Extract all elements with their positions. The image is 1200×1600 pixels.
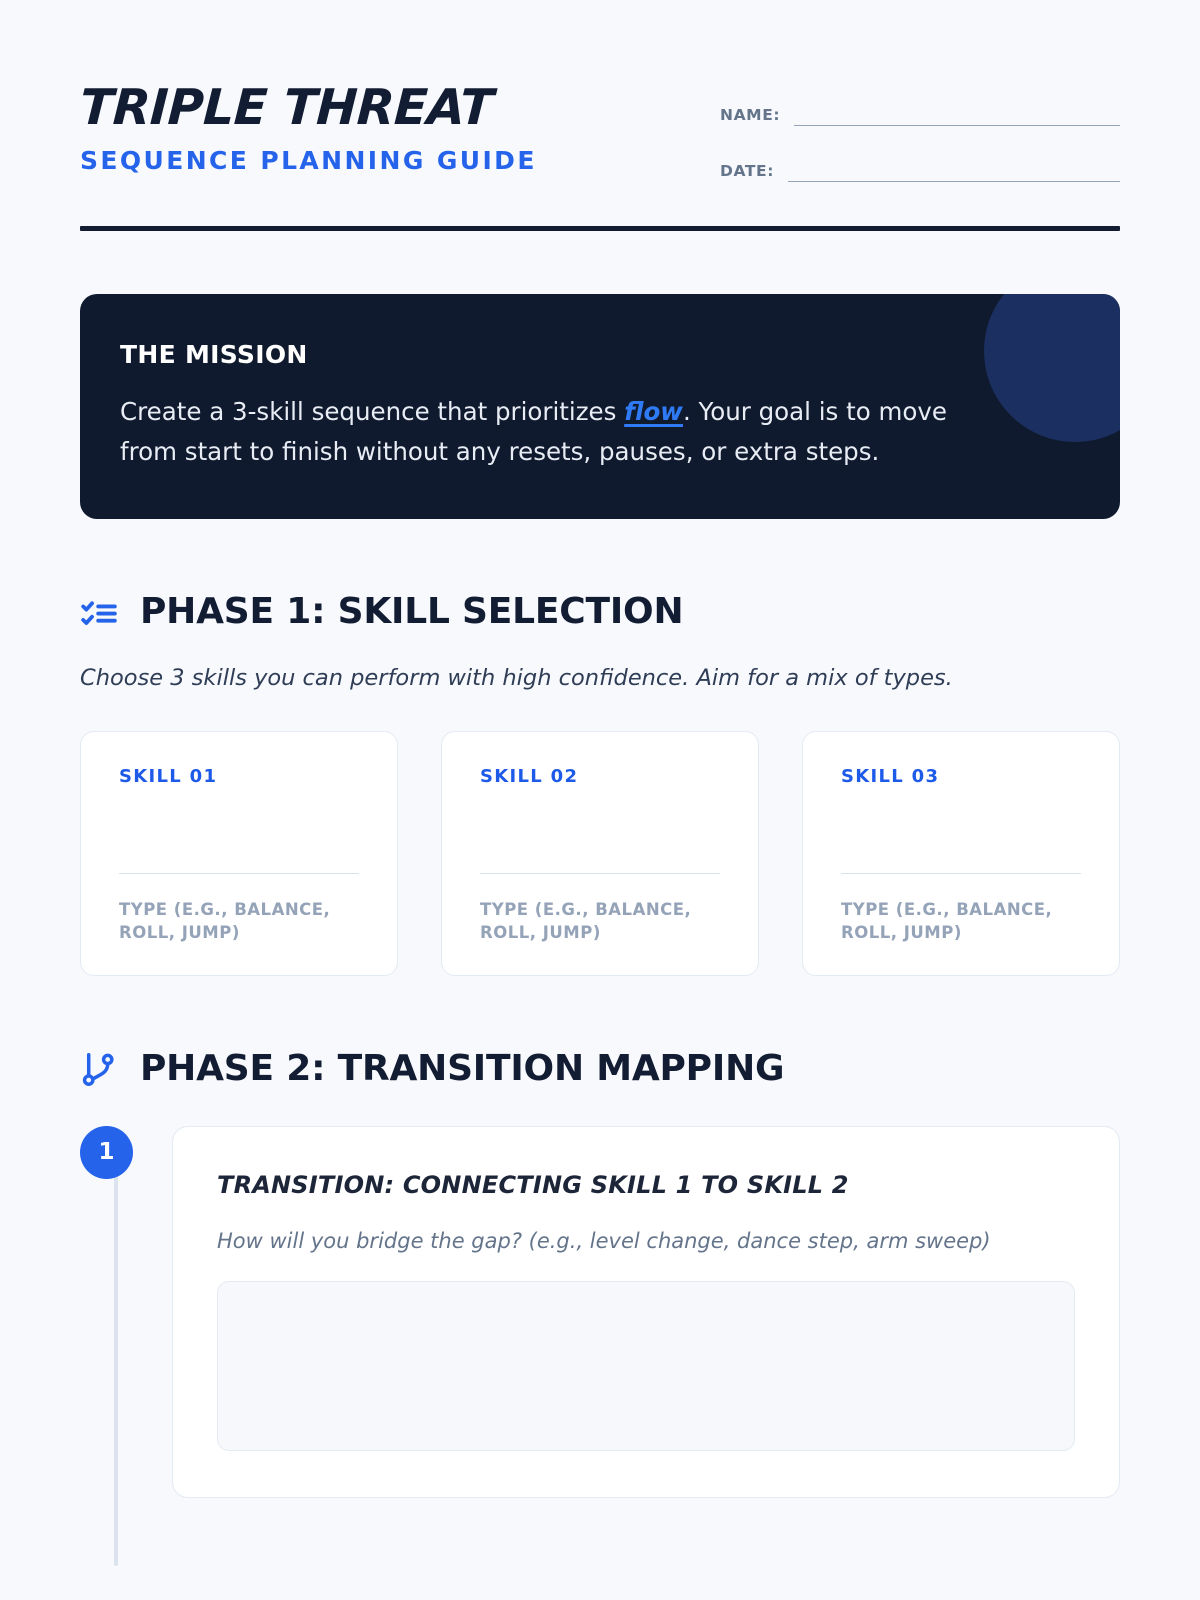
name-field-row: NAME: (720, 100, 1120, 126)
phase-2-title: PHASE 2: TRANSITION MAPPING (140, 1051, 784, 1087)
brand-block: TRIPLE THREAT SEQUENCE PLANNING GUIDE (80, 78, 537, 175)
skill-card-label: SKILL 03 (841, 766, 1081, 787)
worksheet-page: TRIPLE THREAT SEQUENCE PLANNING GUIDE NA… (0, 0, 1200, 1600)
skill-name-input[interactable] (480, 787, 720, 873)
git-branch-icon (80, 1050, 118, 1088)
skill-type-hint: TYPE (E.G., BALANCE, ROLL, JUMP) (841, 898, 1081, 945)
mission-card: THE MISSION Create a 3-skill sequence th… (80, 294, 1120, 519)
date-label: DATE: (720, 162, 774, 182)
transition-answer-input[interactable] (217, 1281, 1075, 1451)
page-header: TRIPLE THREAT SEQUENCE PLANNING GUIDE NA… (80, 60, 1120, 182)
name-input[interactable] (794, 100, 1120, 126)
timeline-rail (114, 1160, 118, 1566)
skill-name-input[interactable] (119, 787, 359, 873)
page-subtitle: SEQUENCE PLANNING GUIDE (80, 147, 537, 175)
transition-timeline: 1 TRANSITION: CONNECTING SKILL 1 TO SKIL… (80, 1126, 1120, 1526)
phase-1-subtitle: Choose 3 skills you can perform with hig… (80, 663, 1120, 695)
mission-title: THE MISSION (120, 340, 1074, 369)
timeline-step-number: 1 (80, 1126, 133, 1179)
transition-card-hint: How will you bridge the gap? (e.g., leve… (217, 1229, 1075, 1253)
header-divider (80, 226, 1120, 231)
skill-name-input[interactable] (841, 787, 1081, 873)
skill-divider (841, 873, 1081, 875)
skill-type-hint: TYPE (E.G., BALANCE, ROLL, JUMP) (119, 898, 359, 945)
page-title: TRIPLE THREAT (79, 82, 539, 133)
mission-text-before: Create a 3-skill sequence that prioritiz… (120, 397, 624, 426)
phase-2-header: PHASE 2: TRANSITION MAPPING (80, 1050, 1120, 1088)
transition-card-title: TRANSITION: CONNECTING SKILL 1 TO SKILL … (217, 1171, 1075, 1199)
skill-card[interactable]: SKILL 01 TYPE (E.G., BALANCE, ROLL, JUMP… (80, 731, 398, 976)
date-field-row: DATE: (720, 156, 1120, 182)
list-checks-icon (80, 593, 118, 631)
phase-1-header: PHASE 1: SKILL SELECTION (80, 593, 1120, 631)
skill-divider (480, 873, 720, 875)
skill-card[interactable]: SKILL 03 TYPE (E.G., BALANCE, ROLL, JUMP… (802, 731, 1120, 976)
skill-card-label: SKILL 01 (119, 766, 359, 787)
meta-fields: NAME: DATE: (720, 78, 1120, 182)
skill-card[interactable]: SKILL 02 TYPE (E.G., BALANCE, ROLL, JUMP… (441, 731, 759, 976)
date-input[interactable] (788, 156, 1120, 182)
transition-card[interactable]: TRANSITION: CONNECTING SKILL 1 TO SKILL … (172, 1126, 1120, 1498)
skill-card-label: SKILL 02 (480, 766, 720, 787)
skill-card-list: SKILL 01 TYPE (E.G., BALANCE, ROLL, JUMP… (80, 731, 1120, 976)
skill-type-hint: TYPE (E.G., BALANCE, ROLL, JUMP) (480, 898, 720, 945)
phase-1-title: PHASE 1: SKILL SELECTION (140, 594, 683, 630)
skill-divider (119, 873, 359, 875)
name-label: NAME: (720, 106, 780, 126)
mission-highlight: flow (624, 397, 683, 426)
mission-body: Create a 3-skill sequence that prioritiz… (120, 392, 1000, 471)
